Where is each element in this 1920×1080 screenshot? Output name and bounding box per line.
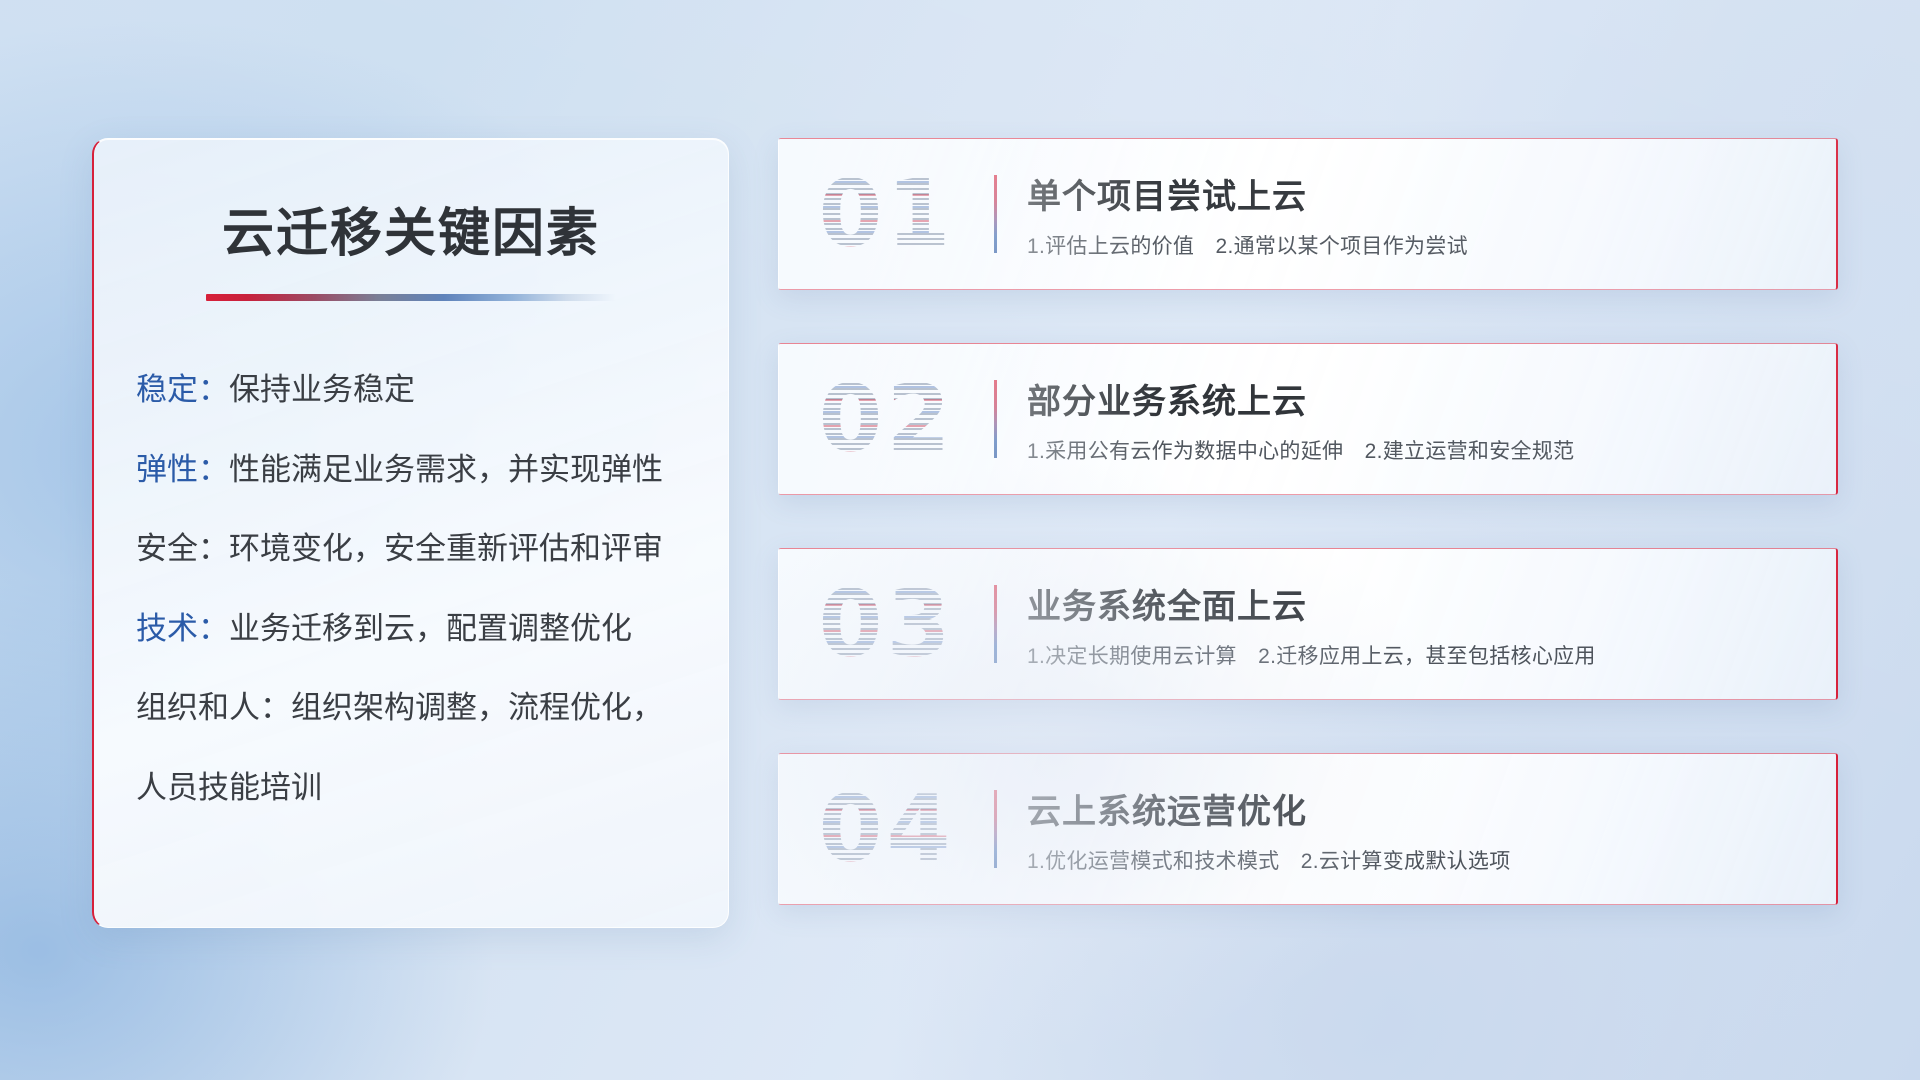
stage-card-text: 单个项目尝试上云 1.评估上云的价值 2.通常以某个项目作为尝试 [1027, 169, 1836, 260]
factor-value: 环境变化，安全重新评估和评审 [229, 531, 663, 566]
stage-card-04[interactable]: 04 04 云上系统运营优化 1.优化运营模式和技术模式 2.云计算变成默认选项 [778, 753, 1838, 905]
stage-description: 1.决定长期使用云计算 2.迁移应用上云，甚至包括核心应用 [1027, 640, 1812, 670]
stage-card-text: 业务系统全面上云 1.决定长期使用云计算 2.迁移应用上云，甚至包括核心应用 [1027, 579, 1836, 670]
factor-value: 组织架构调整，流程优化， [291, 690, 663, 725]
factor-key: 弹性： [136, 452, 229, 487]
factor-list: 稳定：保持业务稳定 弹性：性能满足业务需求，并实现弹性 安全：环境变化，安全重新… [94, 369, 728, 808]
factor-value: 保持业务稳定 [229, 372, 415, 407]
factor-value: 人员技能培训 [136, 770, 322, 805]
list-item: 弹性：性能满足业务需求，并实现弹性 [136, 449, 702, 491]
stage-title: 业务系统全面上云 [1027, 579, 1812, 628]
stage-number-text: 01 [818, 160, 954, 267]
stage-number-01: 01 01 [779, 168, 994, 260]
migration-stage-cards: 01 01 单个项目尝试上云 1.评估上云的价值 2.通常以某个项目作为尝试 0… [778, 138, 1838, 905]
stage-card-text: 云上系统运营优化 1.优化运营模式和技术模式 2.云计算变成默认选项 [1027, 784, 1836, 875]
stage-card-text: 部分业务系统上云 1.采用公有云作为数据中心的延伸 2.建立运营和安全规范 [1027, 374, 1836, 465]
list-item-continuation: 人员技能培训 [136, 767, 702, 809]
key-factors-panel: 云迁移关键因素 稳定：保持业务稳定 弹性：性能满足业务需求，并实现弹性 安全：环… [92, 138, 729, 928]
factor-key: 安全： [136, 531, 229, 566]
title-underline-rule [206, 294, 616, 301]
accent-divider-bar [994, 380, 997, 458]
list-item: 稳定：保持业务稳定 [136, 369, 702, 411]
stage-number-02: 02 02 [779, 373, 994, 465]
stage-title: 单个项目尝试上云 [1027, 169, 1812, 218]
stage-number-04: 04 04 [779, 783, 994, 875]
stage-title: 部分业务系统上云 [1027, 374, 1812, 423]
stage-card-01[interactable]: 01 01 单个项目尝试上云 1.评估上云的价值 2.通常以某个项目作为尝试 [778, 138, 1838, 290]
list-item: 技术：业务迁移到云，配置调整优化 [136, 608, 702, 650]
factor-key: 组织和人： [136, 690, 291, 725]
stage-card-03[interactable]: 03 03 业务系统全面上云 1.决定长期使用云计算 2.迁移应用上云，甚至包括… [778, 548, 1838, 700]
factor-key: 技术： [136, 611, 229, 646]
accent-divider-bar [994, 790, 997, 868]
accent-divider-bar [994, 175, 997, 253]
stage-card-02[interactable]: 02 02 部分业务系统上云 1.采用公有云作为数据中心的延伸 2.建立运营和安… [778, 343, 1838, 495]
stage-number-text: 02 [818, 365, 954, 472]
accent-divider-bar [994, 585, 997, 663]
stage-number-03: 03 03 [779, 578, 994, 670]
slide-canvas: 云迁移关键因素 稳定：保持业务稳定 弹性：性能满足业务需求，并实现弹性 安全：环… [0, 0, 1920, 1080]
factor-value: 业务迁移到云，配置调整优化 [229, 611, 632, 646]
stage-title: 云上系统运营优化 [1027, 784, 1812, 833]
stage-number-text: 03 [818, 570, 954, 677]
page-title: 云迁移关键因素 [94, 191, 728, 266]
factor-value: 性能满足业务需求，并实现弹性 [229, 452, 663, 487]
stage-description: 1.优化运营模式和技术模式 2.云计算变成默认选项 [1027, 845, 1812, 875]
stage-number-text: 04 [818, 775, 954, 882]
list-item: 组织和人：组织架构调整，流程优化， [136, 687, 702, 729]
list-item: 安全：环境变化，安全重新评估和评审 [136, 528, 702, 570]
factor-key: 稳定： [136, 372, 229, 407]
stage-description: 1.评估上云的价值 2.通常以某个项目作为尝试 [1027, 230, 1812, 260]
stage-description: 1.采用公有云作为数据中心的延伸 2.建立运营和安全规范 [1027, 435, 1812, 465]
